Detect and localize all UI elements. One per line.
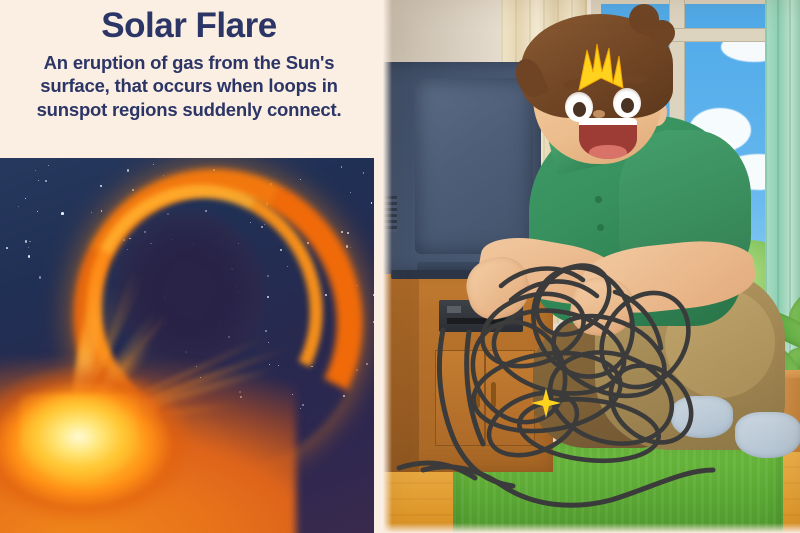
star <box>6 247 8 249</box>
star <box>91 212 92 213</box>
star <box>38 180 40 182</box>
card-canvas: Solar Flare An eruption of gas from the … <box>0 0 800 533</box>
star <box>25 240 28 243</box>
subtitle-line-1: An eruption of gas from the Sun's <box>44 52 335 73</box>
star <box>127 169 130 172</box>
star <box>35 170 36 171</box>
star <box>29 241 31 243</box>
page-subtitle: An eruption of gas from the Sun's surfac… <box>0 51 378 122</box>
star <box>350 247 351 248</box>
star <box>163 175 164 176</box>
solar-flare-illustration <box>0 158 374 533</box>
text-block: Solar Flare An eruption of gas from the … <box>0 8 378 122</box>
star <box>45 180 47 182</box>
star <box>347 232 350 235</box>
star <box>132 189 133 190</box>
star <box>48 165 49 166</box>
star <box>153 164 154 165</box>
subtitle-line-2: surface, that occurs when loops in <box>40 75 337 96</box>
star <box>346 245 349 248</box>
star <box>100 185 102 187</box>
star <box>300 179 301 180</box>
subtitle-line-3: sunspot regions suddenly connect. <box>37 99 342 120</box>
star <box>341 231 343 233</box>
star <box>37 211 38 212</box>
tangled-cables-illustration <box>383 0 800 533</box>
star <box>373 294 375 296</box>
star <box>18 206 19 207</box>
star <box>28 247 30 249</box>
star <box>101 210 102 211</box>
star <box>363 172 364 173</box>
star <box>371 202 373 204</box>
star <box>356 369 358 371</box>
spark-burst <box>571 38 631 99</box>
star <box>350 192 351 193</box>
page-title: Solar Flare <box>0 8 378 45</box>
star <box>28 255 31 258</box>
star <box>366 363 368 365</box>
star <box>373 321 374 324</box>
sunspot-hotspot <box>20 394 138 480</box>
star <box>61 212 64 215</box>
star <box>25 198 26 199</box>
star <box>39 276 41 278</box>
star <box>341 166 342 167</box>
